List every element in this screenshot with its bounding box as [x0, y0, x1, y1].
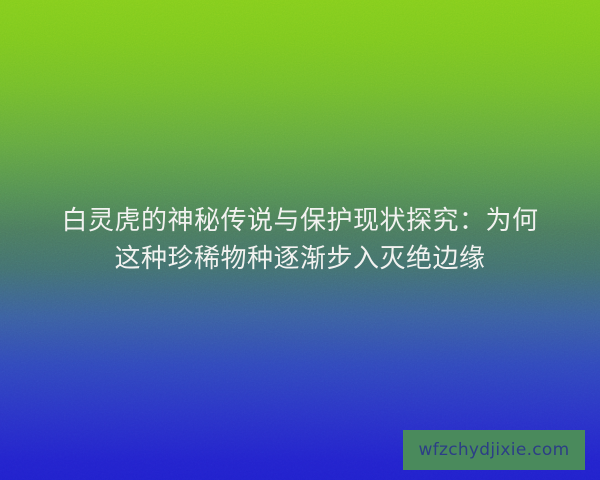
page-title: 白灵虎的神秘传说与保护现状探究：为何 这种珍稀物种逐渐步入灭绝边缘: [0, 202, 600, 278]
image-canvas: 白灵虎的神秘传说与保护现状探究：为何 这种珍稀物种逐渐步入灭绝边缘 wfzchy…: [0, 0, 600, 480]
title-line-1: 白灵虎的神秘传说与保护现状探究：为何: [24, 202, 576, 240]
watermark-badge: wfzchydjixie.com: [403, 430, 585, 470]
watermark-site-label: wfzchydjixie.com: [419, 440, 570, 460]
title-line-2: 这种珍稀物种逐渐步入灭绝边缘: [24, 240, 576, 278]
